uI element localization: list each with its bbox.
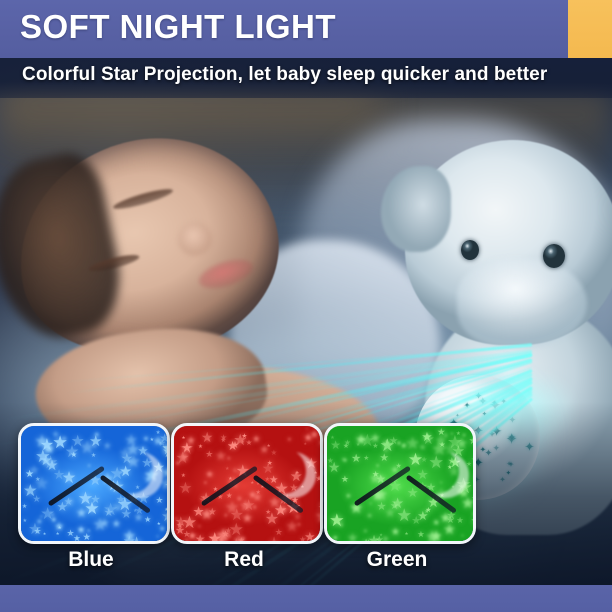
star-glyph: ★ [275, 528, 283, 537]
star-glyph: ★ [159, 525, 166, 533]
star-glyph: ★ [167, 534, 170, 544]
star-glyph: ★ [304, 433, 313, 444]
star-glyph: ★ [318, 503, 323, 514]
star-glyph: ★ [347, 532, 358, 544]
star-glyph: ★ [287, 438, 292, 444]
star-glyph: ★ [144, 516, 151, 524]
star-glyph: ★ [391, 528, 400, 538]
color-label-green: Green [324, 548, 470, 572]
star-glyph: ★ [471, 492, 476, 505]
star-glyph: ★ [459, 488, 470, 500]
star-glyph: ★ [372, 444, 378, 451]
star-glyph: ★ [368, 533, 381, 544]
star-glyph: ★ [181, 436, 185, 441]
ceiling-corner-shape [202, 468, 294, 526]
star-glyph: ★ [320, 502, 323, 509]
star-glyph: ★ [58, 526, 62, 531]
star-glyph: ★ [67, 529, 75, 538]
star-glyph: ★ [221, 439, 226, 445]
baby-nose [178, 222, 212, 256]
star-glyph: ★ [314, 536, 321, 544]
star-glyph: ★ [227, 440, 238, 452]
star-glyph: ★ [52, 434, 68, 451]
star-glyph: ★ [421, 431, 432, 444]
star-glyph: ★ [330, 439, 341, 451]
star-glyph: ★ [297, 523, 302, 528]
star-glyph: ★ [36, 518, 43, 526]
star-glyph: ★ [40, 437, 54, 453]
star-glyph: ★ [154, 541, 166, 544]
star-glyph: ★ [319, 439, 323, 446]
color-card-blue[interactable]: ★★★★★★★★★★★★★★★★★★★★★★★★★★★★★★★★★★★★★★★★… [18, 423, 170, 544]
star-glyph: ★ [181, 474, 186, 480]
star-glyph: ★ [178, 451, 189, 463]
color-card-green[interactable]: ★★★★★★★★★★★★★★★★★★★★★★★★★★★★★★★★★★★★★★★★… [324, 423, 476, 544]
star-glyph: ★ [343, 443, 349, 450]
star-glyph: ★ [103, 442, 112, 452]
star-glyph: ★ [240, 537, 246, 544]
star-glyph: ★ [332, 536, 338, 543]
star-glyph: ★ [381, 439, 391, 450]
star-glyph: ★ [363, 456, 369, 463]
star-glyph: ★ [355, 433, 367, 446]
star-glyph: ★ [461, 434, 466, 440]
star-glyph: ★ [158, 439, 167, 449]
star-glyph: ★ [22, 504, 28, 510]
page-title: SOFT NIGHT LIGHT [20, 8, 336, 46]
star-glyph: ★ [179, 481, 193, 496]
star-glyph: ★ [328, 461, 340, 475]
star-glyph: ★ [341, 458, 345, 463]
star-glyph: ★ [226, 457, 231, 462]
star-glyph: ★ [351, 453, 361, 465]
color-label-blue: Blue [18, 548, 164, 572]
star-glyph: ★ [143, 435, 150, 442]
star-glyph: ★ [466, 462, 472, 469]
star-glyph: ★ [402, 443, 408, 449]
star-glyph: ★ [345, 492, 351, 499]
product-poster: ✦✦✦✦✦✦✦✦✦✦✦✦✦✦✦✦✦✦✦✦✦✦✦✦✦✦✦✦✦✦✦✦✦✦ SOFT … [0, 0, 612, 612]
star-glyph: ★ [198, 445, 203, 450]
star-glyph: ★ [43, 532, 47, 536]
plush-ear [381, 166, 451, 252]
star-glyph: ★ [417, 530, 425, 539]
header-accent-block [568, 0, 612, 58]
star-glyph: ★ [456, 432, 461, 438]
star-glyph: ★ [300, 485, 304, 490]
plush-eye [461, 240, 479, 260]
star-glyph: ★ [329, 512, 345, 530]
star-glyph: ★ [188, 532, 197, 542]
star-glyph: ★ [469, 437, 476, 447]
ceiling-corner-shape [355, 468, 447, 526]
star-glyph: ★ [34, 475, 49, 492]
star-glyph: ★ [241, 441, 245, 446]
star-glyph: ★ [159, 476, 170, 493]
star-glyph: ★ [205, 450, 213, 459]
star-glyph: ★ [341, 475, 349, 484]
star-glyph: ★ [437, 427, 445, 436]
star-glyph: ★ [161, 510, 170, 524]
color-card-red[interactable]: ★★★★★★★★★★★★★★★★★★★★★★★★★★★★★★★★★★★★★★★★… [171, 423, 323, 544]
star-glyph: ★ [299, 536, 306, 544]
star-glyph: ★ [293, 513, 302, 523]
color-swatch-row: ★★★★★★★★★★★★★★★★★★★★★★★★★★★★★★★★★★★★★★★★… [0, 423, 612, 583]
page-subtitle: Colorful Star Projection, let baby sleep… [22, 64, 547, 86]
star-glyph: ★ [405, 532, 409, 537]
star-glyph: ★ [79, 439, 95, 456]
star-glyph: ★ [456, 516, 464, 525]
star-glyph: ★ [215, 527, 231, 544]
star-glyph: ★ [82, 533, 91, 543]
star-glyph: ★ [215, 450, 226, 463]
plush-snout [457, 258, 587, 348]
star-glyph: ★ [23, 519, 28, 524]
star-glyph: ★ [315, 475, 322, 483]
star-glyph: ★ [380, 454, 389, 464]
plush-elephant-nightlight: ✦✦✦✦✦✦✦✦✦✦✦✦✦✦✦✦✦✦✦✦✦✦✦✦✦✦✦✦✦✦✦✦✦✦ [395, 140, 612, 440]
star-glyph: ★ [472, 471, 476, 487]
star-glyph: ★ [471, 511, 476, 518]
ceiling-corner-shape [49, 468, 141, 526]
plush-eye [543, 244, 565, 268]
star-glyph: ★ [314, 471, 318, 476]
star-glyph: ★ [56, 532, 60, 537]
color-label-red: Red [171, 548, 317, 572]
star-glyph: ★ [460, 534, 464, 538]
star-glyph: ★ [155, 496, 163, 505]
star-glyph: ★ [122, 529, 136, 544]
star-glyph: ★ [175, 526, 185, 538]
star-glyph: ★ [246, 439, 253, 447]
star-glyph: ★ [425, 530, 439, 544]
footer-bar [0, 585, 612, 612]
